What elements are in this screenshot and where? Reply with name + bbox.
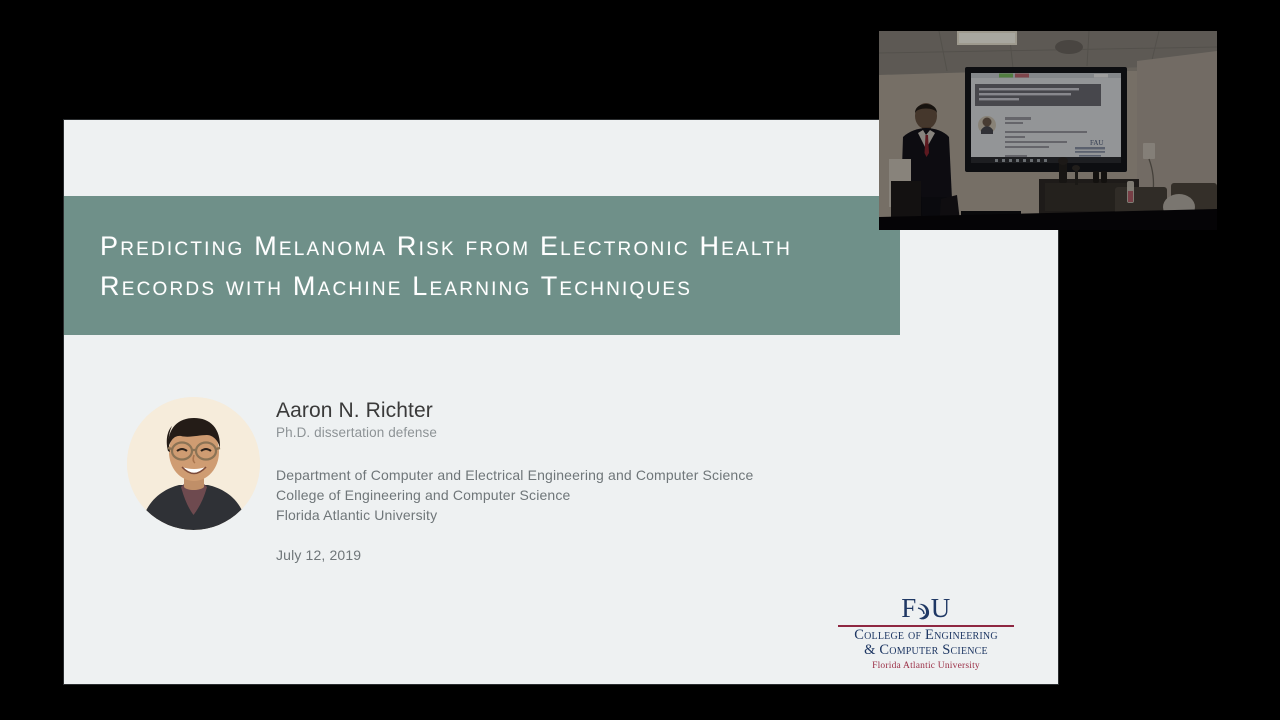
author-subtitle: Ph.D. dissertation defense xyxy=(276,424,836,441)
fau-college-line-2: & Computer Science xyxy=(838,643,1014,658)
slide-title: Predicting Melanoma Risk from Electronic… xyxy=(64,226,900,306)
fau-logo: FU College of Engineering & Computer Sci… xyxy=(838,594,1014,666)
video-stage: Predicting Melanoma Risk from Electronic… xyxy=(0,0,1280,720)
affiliation-line-1: Department of Computer and Electrical En… xyxy=(276,465,836,485)
fau-college-line-1: College of Engineering xyxy=(838,628,1014,643)
affiliation-line-2: College of Engineering and Computer Scie… xyxy=(276,485,836,505)
presenter-webcam-inset[interactable]: FAU xyxy=(879,31,1217,230)
fau-wordmark: FU xyxy=(838,594,1014,623)
avatar xyxy=(127,397,260,530)
slide-title-band: Predicting Melanoma Risk from Electronic… xyxy=(64,196,900,335)
affiliation-line-3: Florida Atlantic University xyxy=(276,505,836,525)
owl-icon xyxy=(917,600,931,620)
fau-letters-au: U xyxy=(931,593,951,623)
affiliation-block: Department of Computer and Electrical En… xyxy=(276,465,836,525)
fau-letter-f: F xyxy=(901,593,917,623)
author-name: Aaron N. Richter xyxy=(276,398,836,423)
author-block: Aaron N. Richter Ph.D. dissertation defe… xyxy=(276,398,836,563)
fau-university-name: Florida Atlantic University xyxy=(838,660,1014,672)
presentation-date: July 12, 2019 xyxy=(276,547,836,563)
